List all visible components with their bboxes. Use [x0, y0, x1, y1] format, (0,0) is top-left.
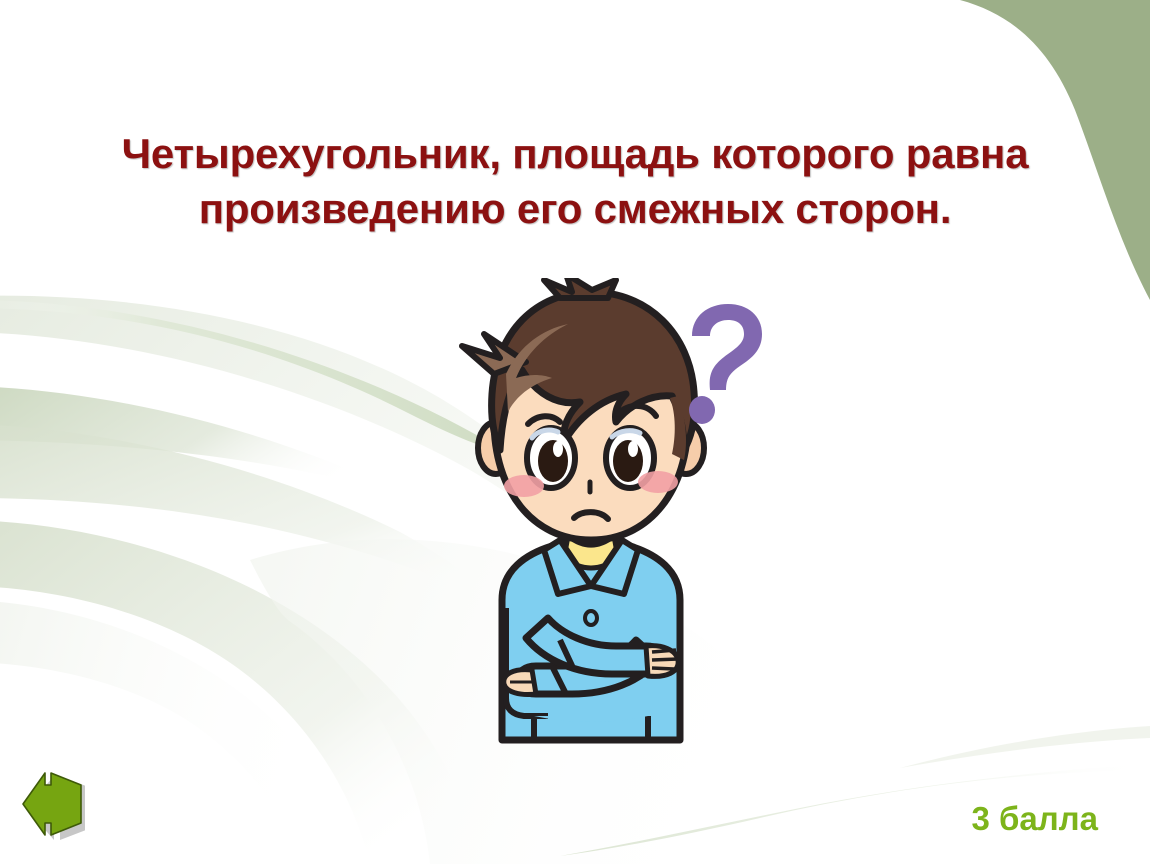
slide-canvas: Четырехугольник, площадь которого равна …	[0, 0, 1150, 864]
score-badge: 3 балла	[971, 800, 1098, 838]
boy-figure	[462, 278, 762, 740]
back-button[interactable]	[21, 765, 85, 843]
boy-head	[462, 278, 704, 540]
arrow-left-icon[interactable]	[23, 773, 85, 840]
title-line-2: произведению его смежных сторон.	[75, 181, 1075, 236]
question-mark-icon	[689, 304, 762, 424]
title-line-1: Четырехугольник, площадь которого равна	[75, 126, 1075, 181]
page-title: Четырехугольник, площадь которого равна …	[75, 126, 1075, 237]
thinking-boy-illustration	[440, 278, 770, 748]
boy-body	[502, 514, 680, 740]
